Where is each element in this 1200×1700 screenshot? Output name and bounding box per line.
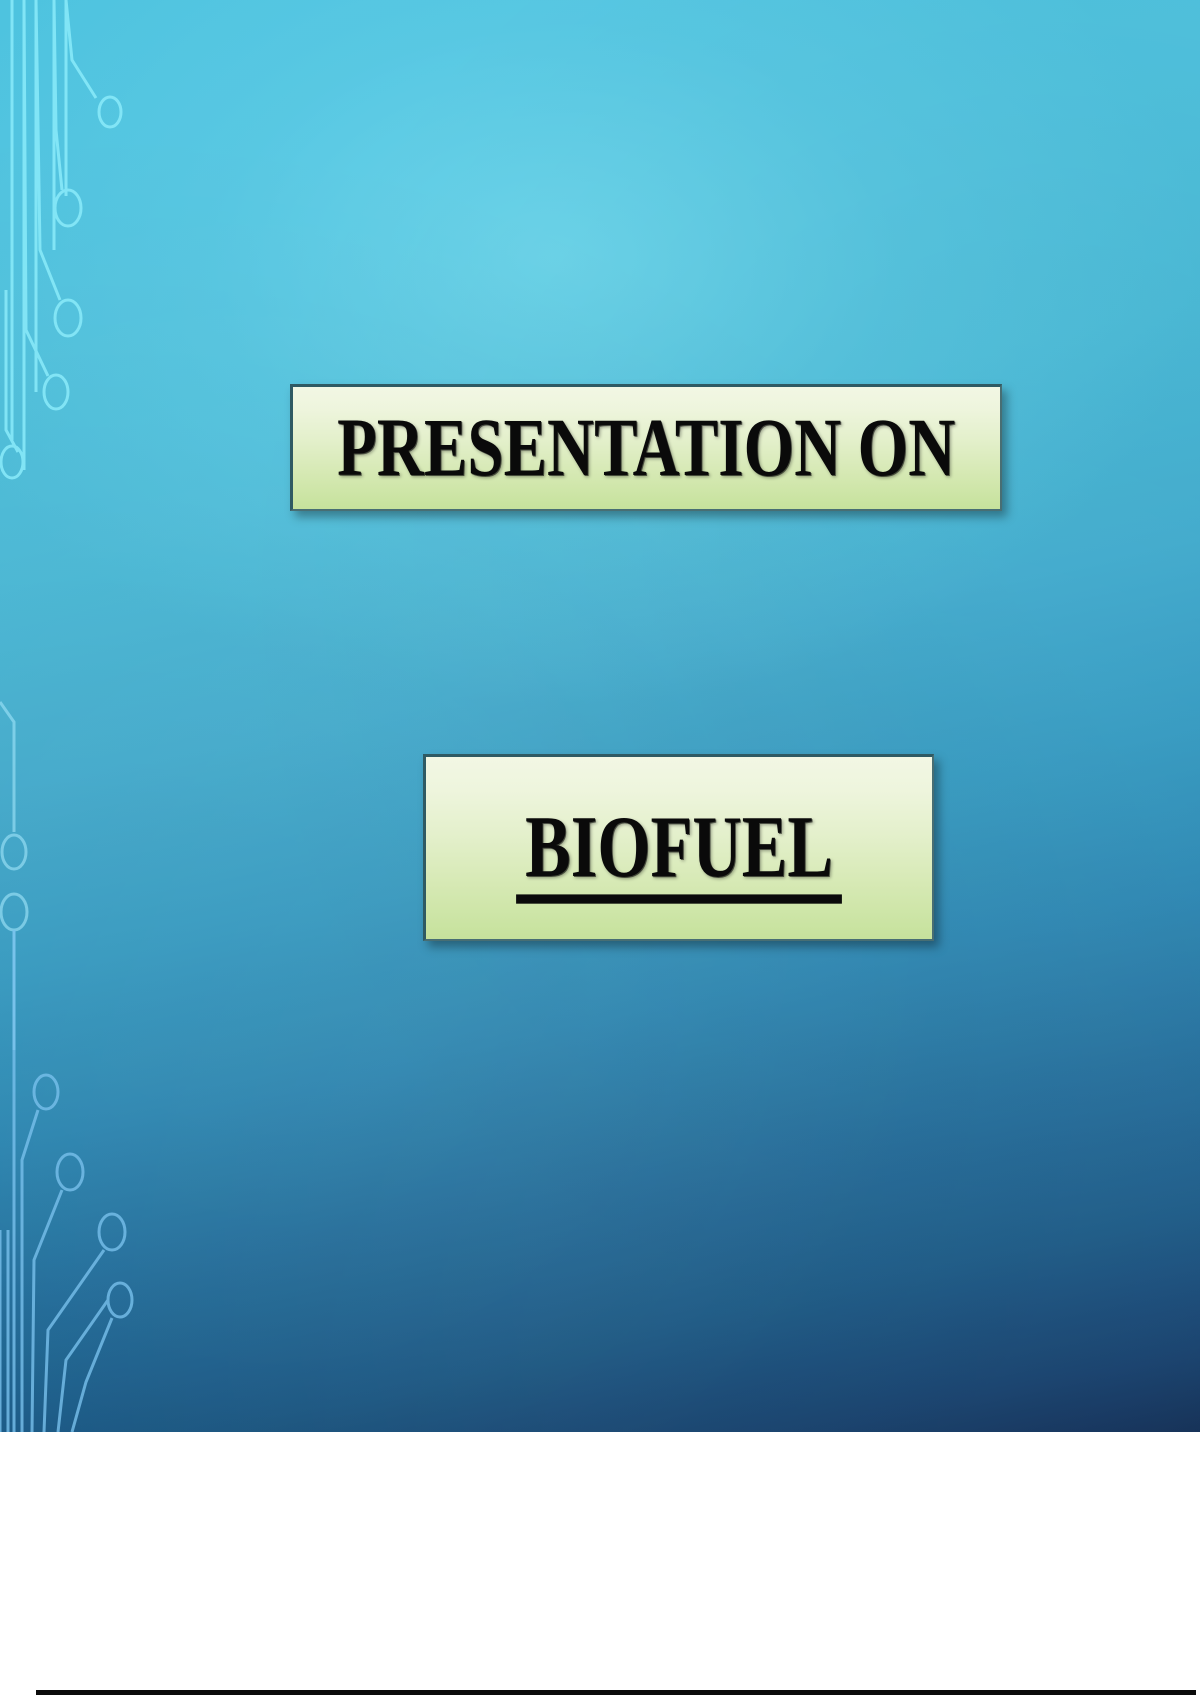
subject-textbox[interactable]: BIOFUEL — [423, 754, 934, 941]
subject-text: BIOFUEL — [525, 803, 833, 893]
document-page: PRESENTATION ON BIOFUEL — [0, 0, 1200, 1700]
title-textbox[interactable]: PRESENTATION ON — [290, 384, 1002, 511]
circuit-pattern-decoration — [0, 0, 260, 1432]
subject-underline — [516, 894, 842, 903]
subject-text-label: BIOFUEL — [525, 798, 833, 895]
page-bottom-rule — [36, 1690, 1196, 1695]
presentation-slide[interactable]: PRESENTATION ON BIOFUEL — [0, 0, 1200, 1432]
title-text: PRESENTATION ON — [337, 407, 955, 490]
page-whitespace — [0, 1432, 1200, 1700]
